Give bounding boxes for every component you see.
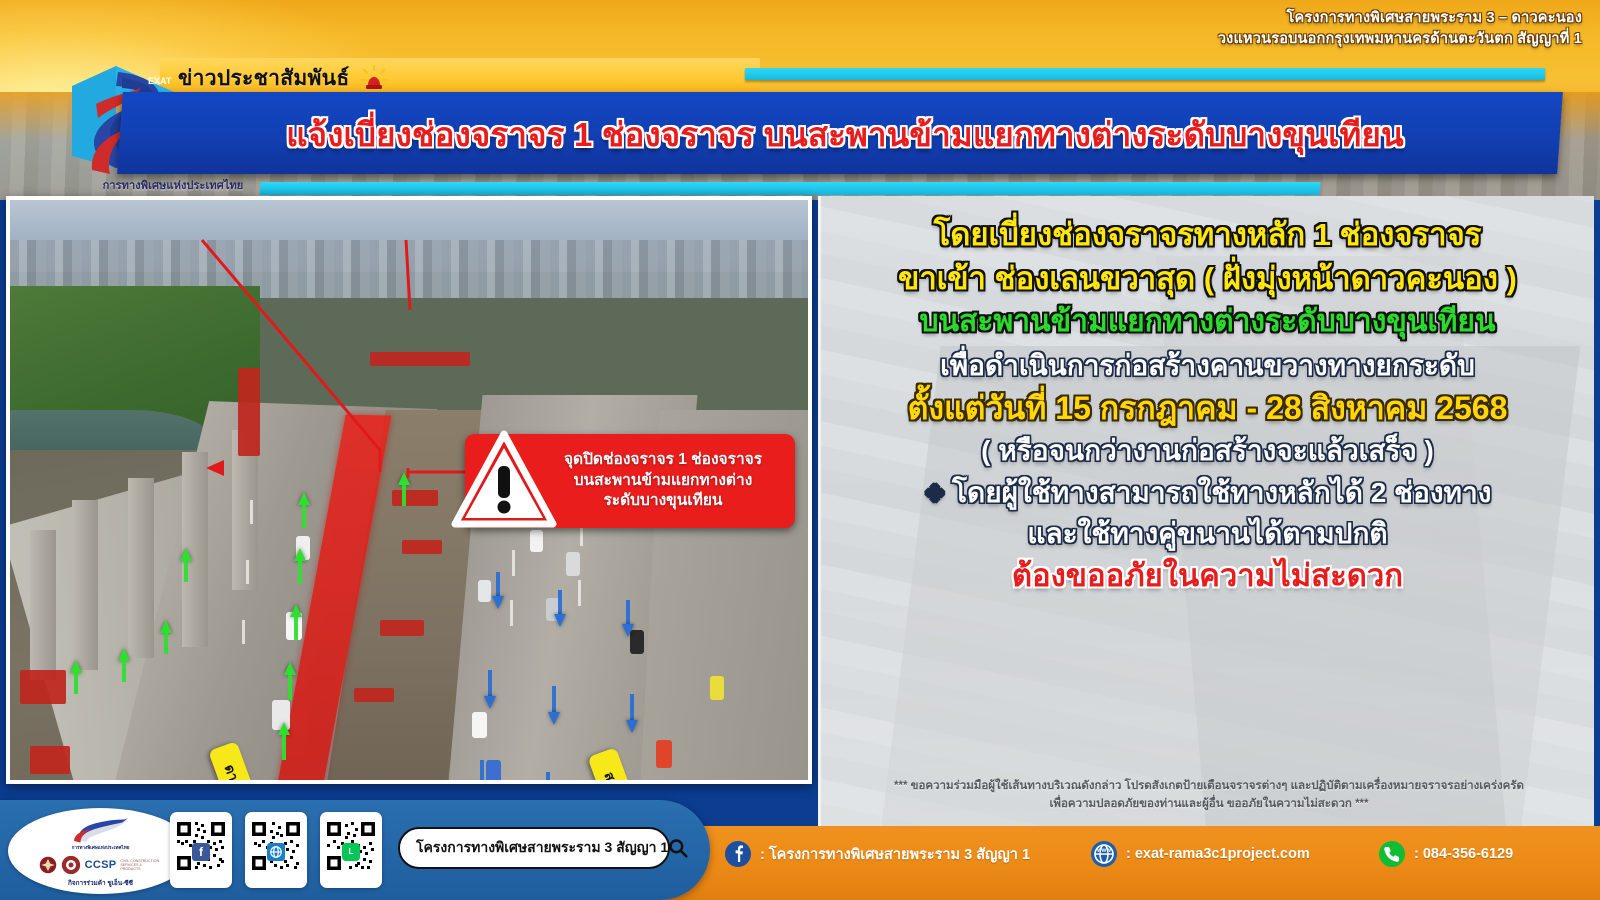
photo-crane [238, 368, 260, 456]
lane-marking [250, 500, 253, 524]
ccsp-gear-icon [61, 855, 81, 875]
fineprint-line-2: เพื่อความปลอดภัยของท่านและผู้อื่น ขออภัย… [835, 796, 1583, 814]
green-arrow-tail [288, 672, 292, 700]
svg-text:EXAT: EXAT [148, 76, 172, 86]
blue-direction-arrow [484, 696, 496, 709]
lane-marking [510, 600, 513, 626]
photo-vehicle [478, 580, 491, 602]
green-arrow-tail [402, 482, 406, 506]
warning-line3: ระดับบางขุนเทียน [537, 491, 789, 511]
announcement-panel: โดยเบี่ยงช่องจราจรทางหลัก 1 ช่องจราจร ขา… [818, 196, 1594, 826]
qr-line[interactable]: L [320, 812, 382, 888]
contact-facebook-text: : โครงการทางพิเศษสายพระราม 3 สัญญา 1 [760, 843, 1030, 866]
project-title: โครงการทางพิเศษสายพระราม 3 – ดาวคะนอง วง… [942, 8, 1582, 50]
warning-line1: จุดปิดช่องจราจร 1 ช่องจราจร [537, 450, 789, 470]
message-line-2: ขาเข้า ช่องเลนขวาสุด ( ฝั่งมุ่งหน้าดาวคะ… [837, 262, 1578, 297]
project-title-line1: โครงการทางพิเศษสายพระราม 3 – ดาวคะนอง [942, 8, 1582, 29]
contact-phone[interactable]: : 084-356-6129 [1378, 840, 1513, 868]
fineprint: *** ขอความร่วมมือผู้ใช้เส้นทางบริเวณดังก… [835, 778, 1583, 814]
photo-formwork [402, 540, 442, 554]
exat-logo-icon: EXAT [69, 814, 133, 844]
blue-arrow-tail [480, 760, 484, 784]
contact-phone-text: : 084-356-6129 [1414, 846, 1513, 862]
facebook-icon [724, 840, 752, 868]
warning-triangle-icon [451, 428, 557, 534]
green-arrow-tail [122, 658, 126, 682]
ccsp-logo-row: CCSP CIVIL CONSTRUCTION SERVICES & PRODU… [39, 855, 163, 875]
ccsp-label: CCSP [85, 859, 117, 871]
svg-text:www: www [1096, 848, 1111, 854]
lane-marking [578, 580, 581, 606]
photo-gantry [370, 352, 470, 366]
press-label: ข่าวประชาสัมพันธ์ [178, 60, 387, 96]
globe-icon [267, 843, 285, 861]
siren-icon [361, 65, 387, 91]
green-arrow-tail [74, 670, 78, 694]
red-merge-arrow-left [206, 782, 236, 784]
green-arrow-tail [294, 614, 298, 640]
cyan-accent-bottom [259, 182, 1320, 195]
green-arrow-tail [282, 732, 286, 760]
project-title-line2: วงแหวนรอบนอกกรุงเทพมหานครด้านตะวันตก สัญ… [942, 29, 1582, 50]
contact-website-text: : exat-rama3c1project.com [1126, 846, 1310, 862]
photo-formwork [380, 620, 424, 636]
message-line-7: ❖โดยผู้ใช้ทางสามารถใช้ทางหลักได้ 2 ช่องท… [837, 477, 1578, 508]
photo-vehicle [472, 712, 487, 738]
diamond-bullet-icon: ❖ [924, 480, 946, 508]
message-line-5: ตั้งแต่วันที่ 15 กรกฎาคม - 28 สิงหาคม 25… [837, 391, 1578, 427]
fineprint-line-1: *** ขอความร่วมมือผู้ใช้เส้นทางบริเวณดังก… [835, 778, 1583, 796]
warning-line2: บนสะพานข้ามแยกทางต่าง [537, 471, 789, 491]
contact-facebook[interactable]: : โครงการทางพิเศษสายพระราม 3 สัญญา 1 [724, 840, 1030, 868]
photo-formwork [392, 490, 438, 506]
green-arrow-tail [302, 502, 306, 528]
message-line-6: ( หรือจนกว่างานก่อสร้างจะแล้วเสร็จ ) [837, 435, 1578, 466]
message-line-4: เพื่อดำเนินการก่อสร้างคานขวางทางยกระดับ [837, 350, 1578, 381]
line-icon: L [342, 843, 360, 861]
photo-vehicle [710, 676, 724, 700]
blue-direction-arrow [548, 712, 560, 725]
blue-arrow-tail [546, 772, 550, 784]
blue-direction-arrow [626, 720, 638, 733]
green-arrow-tail [298, 558, 302, 584]
message-line-3: บนสะพานข้ามแยกทางต่างระดับบางขุนเทียน [837, 305, 1578, 339]
photo-pier [128, 478, 154, 658]
blue-arrow-tail [488, 670, 492, 696]
blue-direction-arrow [554, 614, 566, 627]
ccsp-sublabel: CIVIL CONSTRUCTION SERVICES & PRODUCTS [120, 859, 162, 872]
message-line-7-text: โดยผู้ใช้ทางสามารถใช้ทางหลักได้ 2 ช่องทา… [952, 477, 1491, 508]
globe-icon: www [1090, 840, 1118, 868]
agency-caption: การทางพิเศษแห่งประเทศไทย [78, 176, 268, 194]
lane-marking [512, 550, 515, 576]
phone-icon [1378, 840, 1406, 868]
blue-arrow-tail [626, 600, 630, 624]
photo-equipment [20, 670, 66, 704]
blue-arrow-tail [630, 694, 634, 720]
green-arrow-tail [184, 558, 188, 582]
green-arrow-tail [164, 630, 168, 654]
svg-text:EXAT: EXAT [108, 820, 119, 824]
cyan-accent-top [745, 68, 1545, 80]
message-line-9: ต้องขออภัยในความไม่สะดวก [837, 559, 1578, 594]
photo-pier [30, 530, 56, 680]
footer-exat-caption: การทางพิเศษแห่งประเทศไทย [72, 845, 130, 852]
contact-website[interactable]: www : exat-rama3c1project.com [1090, 840, 1310, 868]
photo-vehicle [486, 760, 501, 784]
blue-direction-arrow [492, 596, 504, 609]
blue-arrow-tail [552, 686, 556, 712]
message-line-1: โดยเบี่ยงช่องจราจรทางหลัก 1 ช่องจราจร [837, 218, 1578, 253]
message-line-8: และใช้ทางคู่ขนานได้ตามปกติ [837, 518, 1578, 549]
press-label-text: ข่าวประชาสัมพันธ์ [178, 62, 349, 95]
lane-marking [242, 620, 245, 644]
headline-text: แจ้งเบี่ยงช่องจราจร 1 ช่องจราจร บนสะพานข… [150, 100, 1540, 168]
photo-vehicle [656, 740, 672, 768]
photo-vehicle [566, 552, 580, 576]
qr-website[interactable] [245, 812, 307, 888]
warning-callout: จุดปิดช่องจราจร 1 ช่องจราจร บนสะพานข้ามแ… [465, 434, 795, 528]
search-icon[interactable] [668, 838, 688, 858]
blue-arrow-tail [496, 572, 500, 596]
photo-formwork [354, 688, 394, 702]
search-input-value[interactable]: โครงการทางพิเศษสายพระราม 3 สัญญา 1 [416, 837, 668, 859]
aerial-photo: ดาวคะนอง สมุทรสาคร ดาวคะนอง ดาวคะนอง สมุ… [6, 196, 812, 784]
qr-facebook[interactable]: f [170, 812, 232, 888]
photo-pier [72, 500, 98, 670]
search-box[interactable]: โครงการทางพิเศษสายพระราม 3 สัญญา 1 [398, 827, 670, 869]
warning-text: จุดปิดช่องจราจร 1 ช่องจราจร บนสะพานข้ามแ… [537, 450, 789, 511]
photo-equipment [30, 746, 70, 774]
joint-venture-caption: กิจการร่วมค้า ชูเอ็น-ซีซี [68, 878, 133, 888]
lane-marking [246, 560, 249, 584]
announcement-text: โดยเบี่ยงช่องจราจรทางหลัก 1 ช่องจราจร ขา… [821, 196, 1594, 826]
facebook-icon: f [192, 843, 210, 861]
footer-logo-group: EXAT การทางพิเศษแห่งประเทศไทย CCSP CIVIL… [8, 808, 193, 894]
blue-direction-arrow [622, 624, 634, 637]
garuda-icon [39, 856, 57, 874]
blue-arrow-tail [558, 590, 562, 614]
